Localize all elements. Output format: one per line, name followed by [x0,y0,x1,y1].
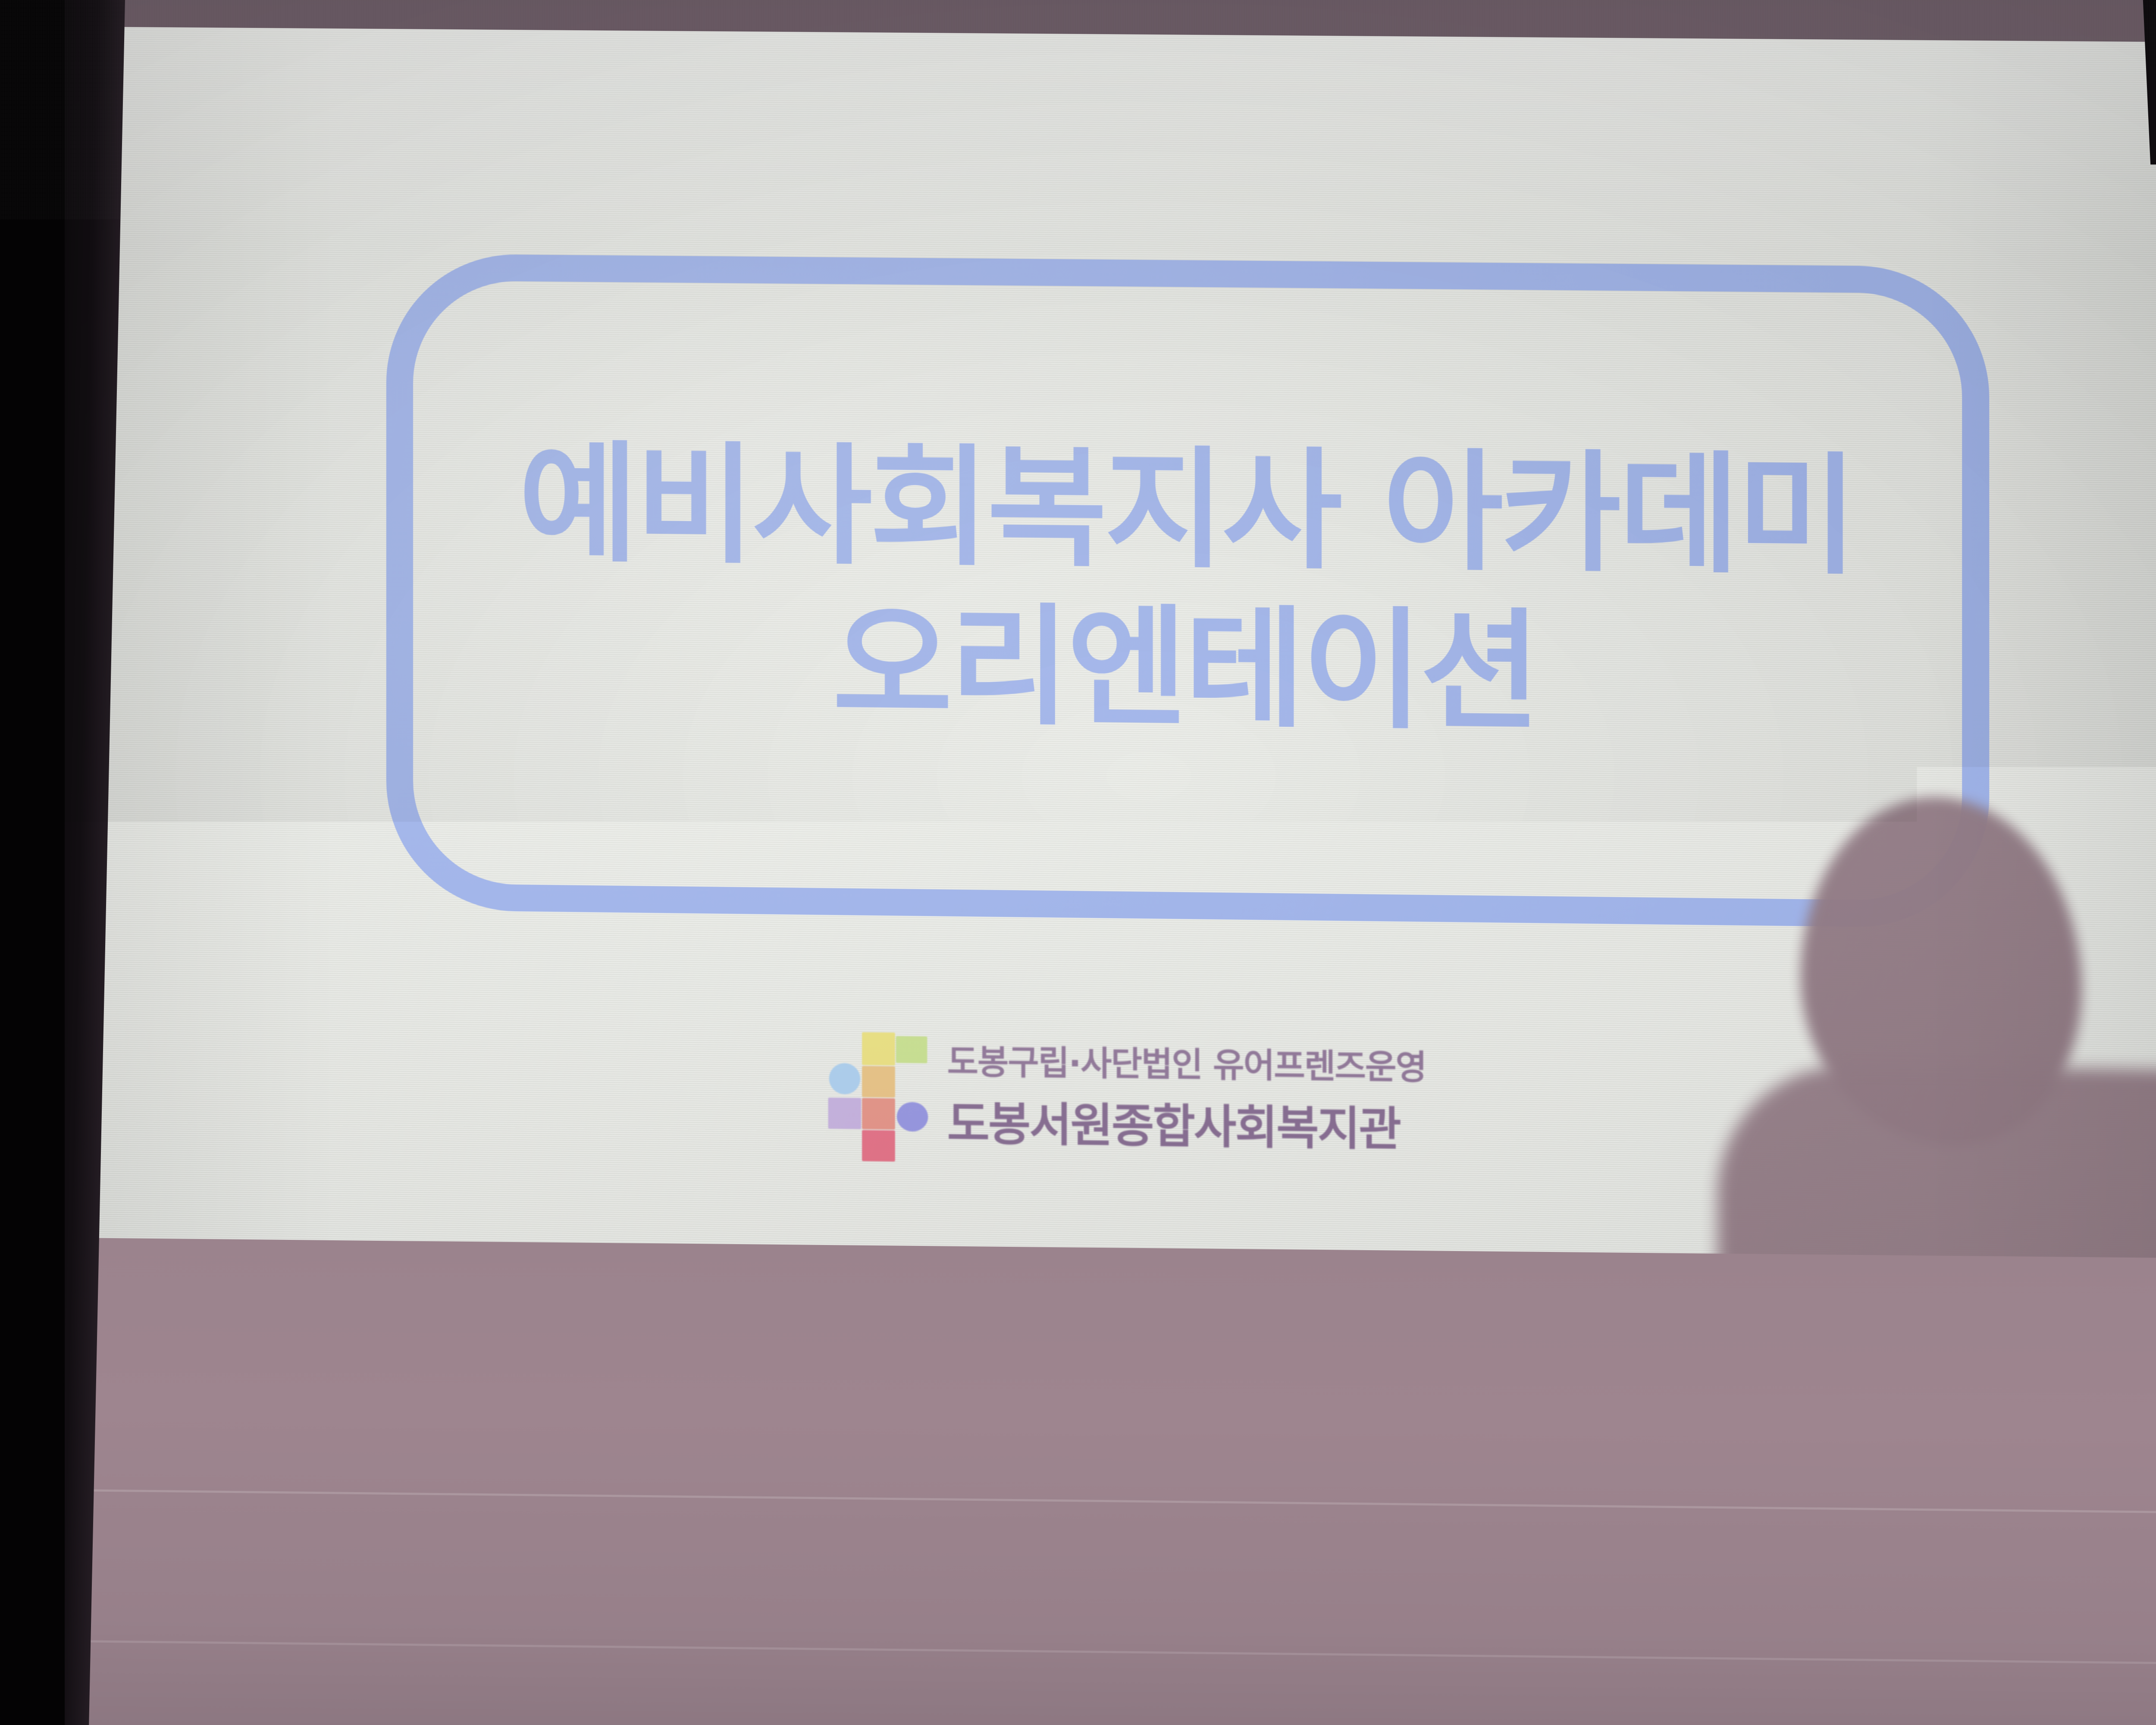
hinge-pin [1547,1287,1562,1357]
hinge-pin [715,1653,727,1724]
photo-scene: 예비사회복지사 아카데미 오리엔테이션 도봉구립·사단법인 유어프렌즈운영 도봉… [0,0,2156,1725]
speaker [0,0,2156,1725]
hinge-screw [1576,1330,1591,1345]
hinge-screw [1576,1295,1591,1309]
face-mask [1466,858,1699,1156]
hinge-pin [1287,1429,1300,1495]
dark-bag [2007,1465,2156,1713]
hinge-screw [1507,1295,1522,1309]
hinge-screw [1251,1436,1266,1451]
partition-hinge-lower-left [681,1652,776,1725]
partition-hinge-middle [1242,1427,1341,1496]
hinge-screw [1507,1330,1522,1345]
hinge-screw [1251,1470,1266,1484]
hinge-screw [728,1678,743,1692]
partition-hinge-upper [1496,1285,1608,1358]
speaker-eye [1509,841,1565,856]
